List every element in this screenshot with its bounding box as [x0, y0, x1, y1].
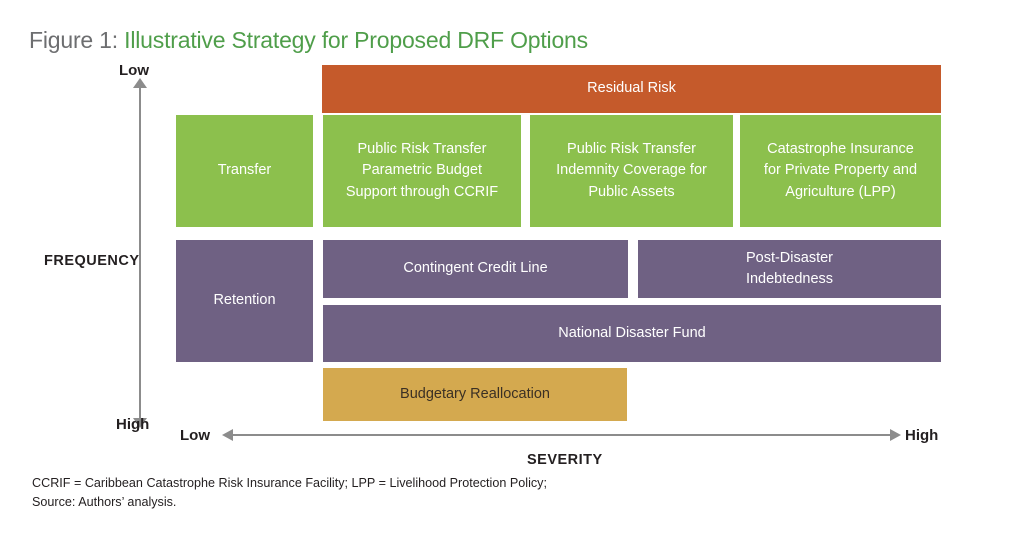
- frequency-high-label: High: [116, 416, 149, 433]
- matrix-cell-retention: National Disaster Fund: [323, 305, 941, 362]
- matrix-cell-transfer: Transfer: [176, 115, 313, 227]
- severity-low-label: Low: [180, 427, 210, 444]
- matrix-cell-retention: Post-Disaster Indebtedness: [638, 240, 941, 298]
- matrix-cell-retention: Retention: [176, 240, 313, 362]
- matrix-cell-transfer: Catastrophe Insurance for Private Proper…: [740, 115, 941, 227]
- frequency-axis-title: FREQUENCY: [44, 253, 140, 269]
- frequency-low-label: Low: [119, 62, 149, 79]
- severity-high-label: High: [905, 427, 938, 444]
- footnote-abbreviations: CCRIF = Caribbean Catastrophe Risk Insur…: [32, 474, 547, 493]
- matrix-cell-retention: Contingent Credit Line: [323, 240, 628, 298]
- matrix-cell-budget: Budgetary Reallocation: [323, 368, 627, 421]
- severity-right-arrow-icon: [890, 429, 901, 441]
- chart-plot-area: Low High FREQUENCY Residual RiskTransfer…: [0, 0, 1024, 470]
- footnote-source: Source: Authors’ analysis.: [32, 493, 547, 512]
- matrix-cell-transfer: Public Risk Transfer Parametric Budget S…: [323, 115, 521, 227]
- footnote: CCRIF = Caribbean Catastrophe Risk Insur…: [32, 474, 547, 512]
- severity-axis-line: [232, 434, 892, 436]
- matrix-cell-transfer: Public Risk Transfer Indemnity Coverage …: [530, 115, 733, 227]
- severity-axis-title: SEVERITY: [527, 452, 603, 468]
- matrix-cell-residual: Residual Risk: [322, 65, 941, 113]
